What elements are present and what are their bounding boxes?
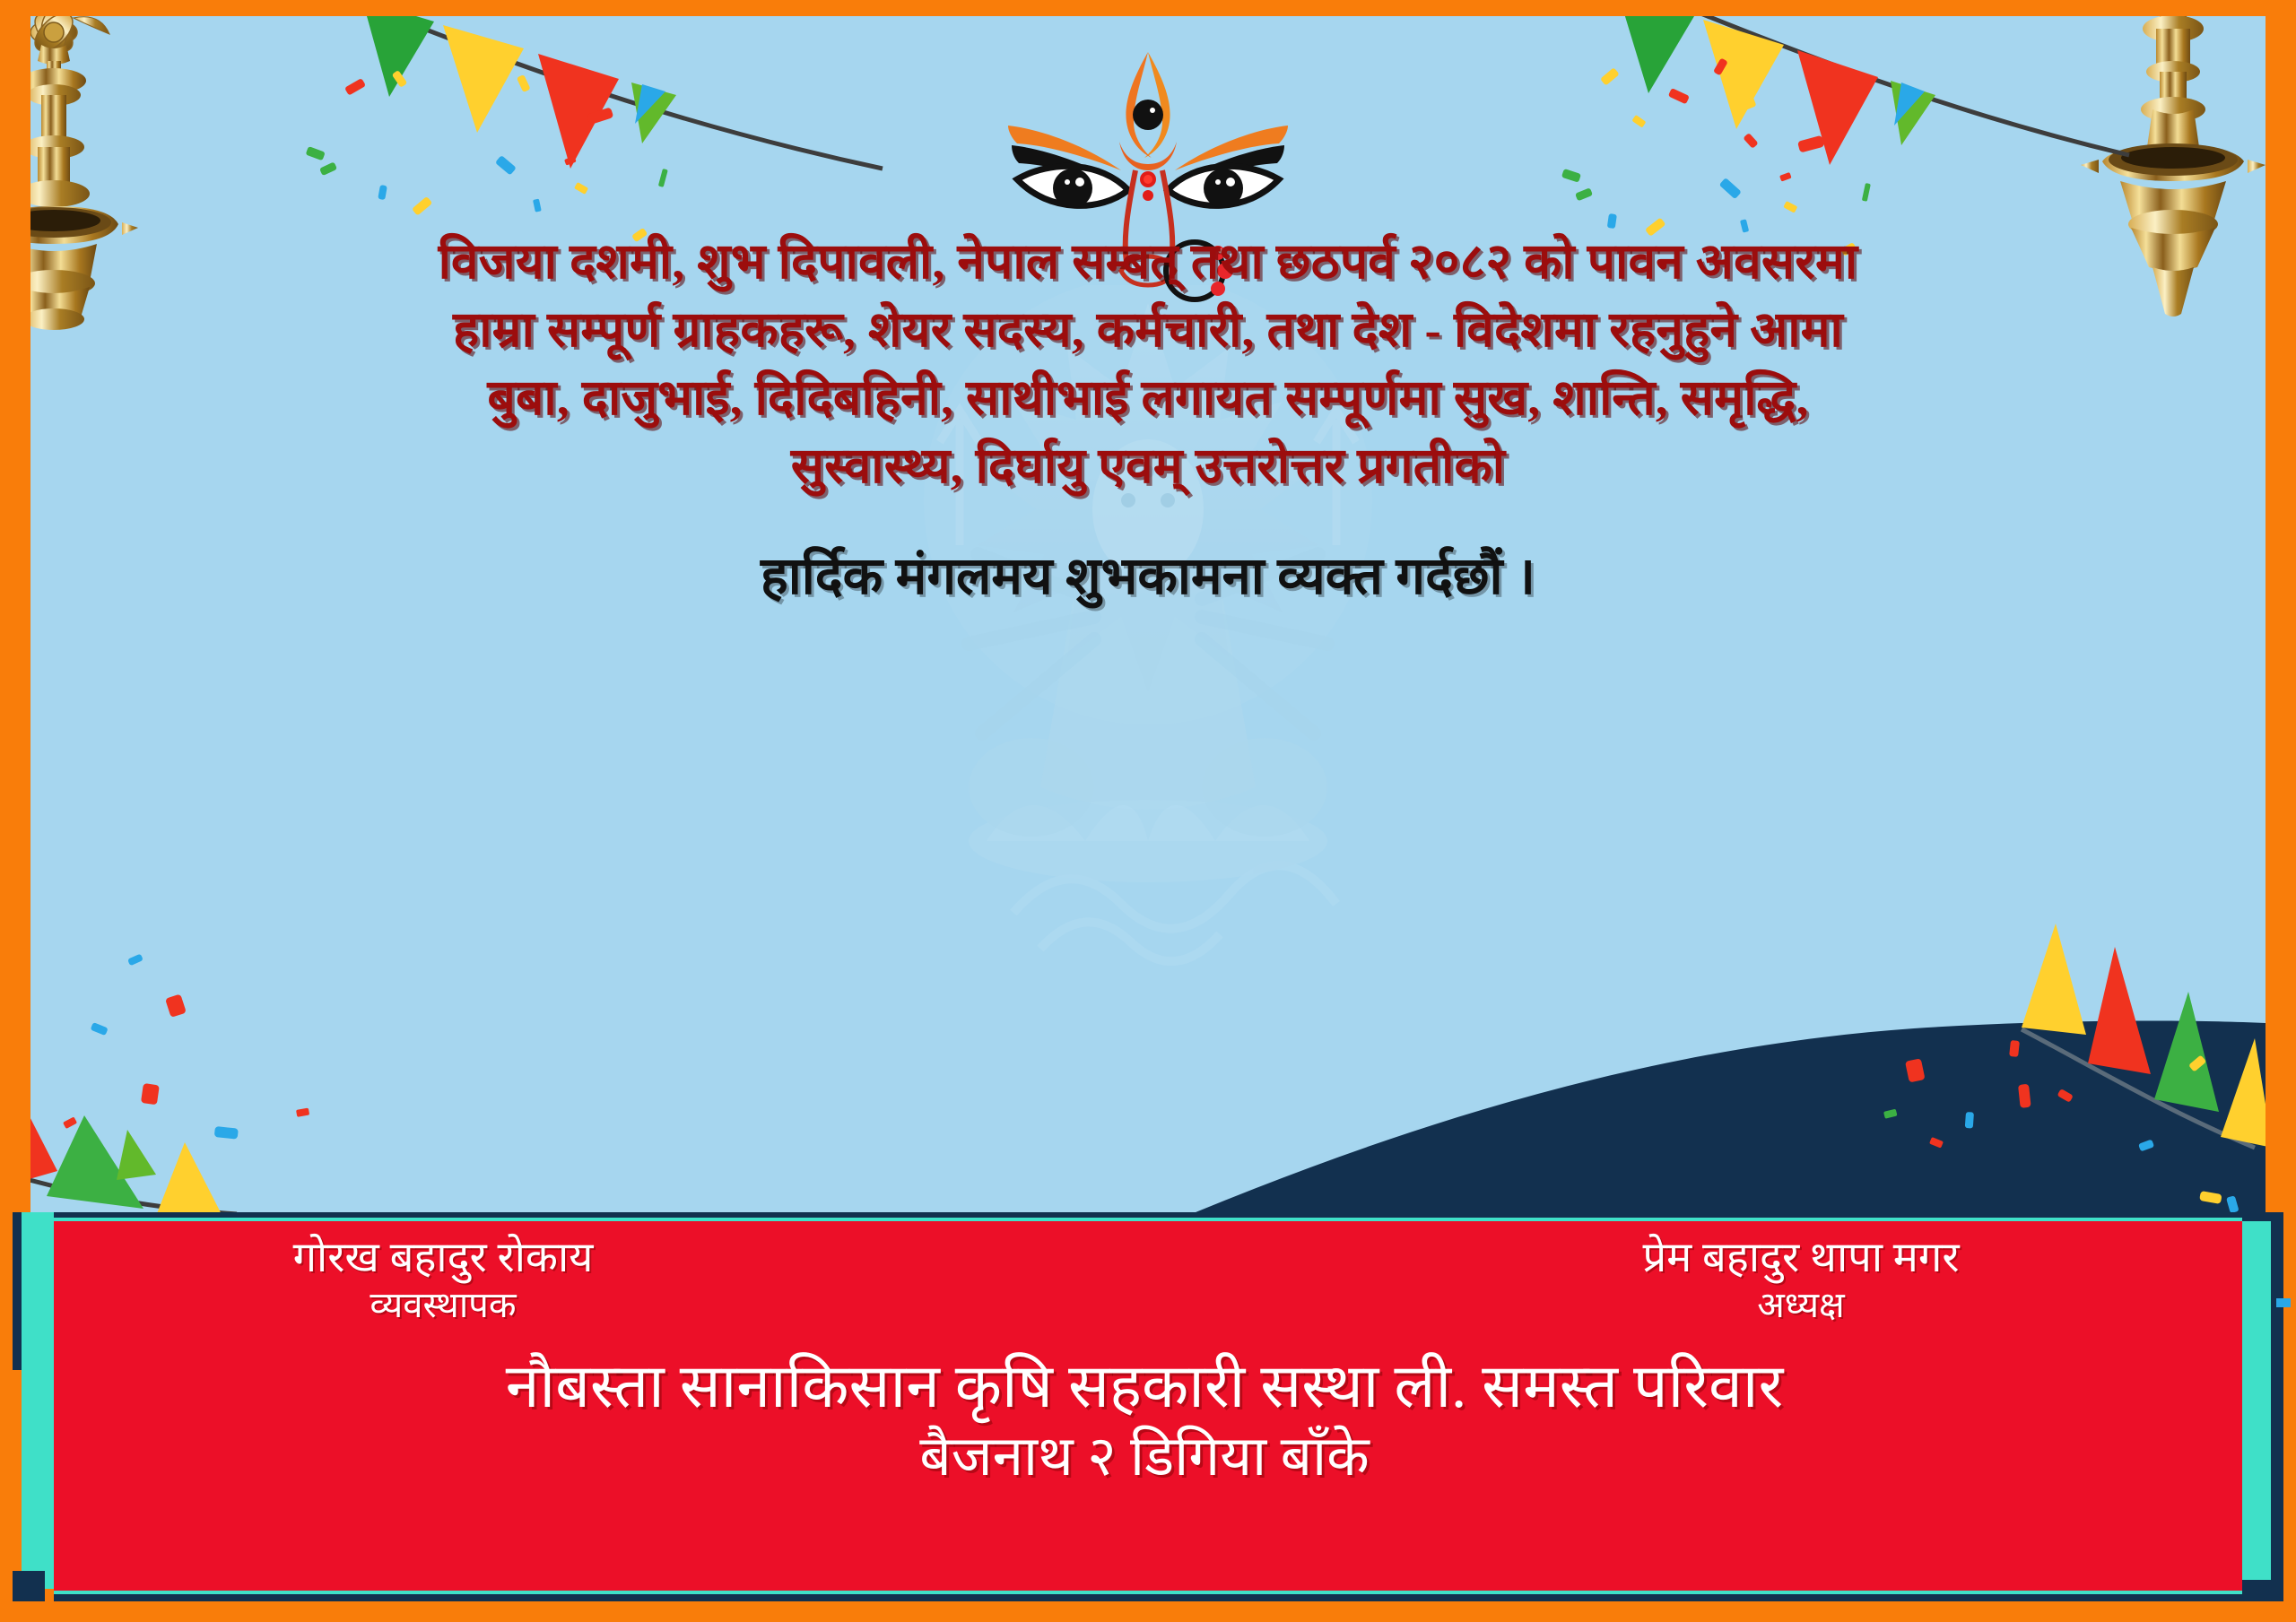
signatory-right-name: प्रेम बहादुर थापा मगर [1460,1234,2142,1282]
right-edge-strip [2242,1212,2296,1601]
greeting-card: विजया दशमी, शुभ दिपावली, नेपाल सम्बत् तथ… [0,0,2296,1622]
signatory-left: गोरख बहादुर रोकाय व्यवस्थापक [102,1234,784,1325]
signatory-right: प्रेम बहादुर थापा मगर अध्यक्ष [1460,1234,2142,1325]
signatory-left-name: गोरख बहादुर रोकाय [102,1234,784,1282]
message-line-2: हाम्रा सम्पूर्ण ग्राहकहरू, शेयर सदस्य, क… [30,296,2266,364]
bunting-flags-icon [1752,913,2266,1236]
bunting-flags-icon [30,940,533,1236]
signature-banner: गोरख बहादुर रोकाय व्यवस्थापक प्रेम बहादु… [39,1221,2249,1591]
message-closing-line: हार्दिक मंगलमय शुभकामना व्यक्त गर्दछौं । [30,538,2266,609]
signatory-right-role: अध्यक्ष [1460,1286,2142,1325]
left-edge-strip [0,1212,54,1601]
message-line-4: सुस्वास्थ्य, दिर्घायु एवम् उत्तरोत्तर प्… [30,432,2266,500]
organization-block: नौबस्ता सानाकिसान कृषि सहकारी सस्था ली. … [39,1350,2249,1490]
organization-address: बैजनाथ २ डिगिया बाँके [39,1424,2249,1490]
message-line-1: विजया दशमी, शुभ दिपावली, नेपाल सम्बत् तथ… [30,228,2266,296]
signatories-row: गोरख बहादुर रोकाय व्यवस्थापक प्रेम बहादु… [39,1221,2249,1354]
signatory-left-role: व्यवस्थापक [102,1286,784,1325]
greeting-message: विजया दशमी, शुभ दिपावली, नेपाल सम्बत् तथ… [30,228,2266,609]
organization-name: नौबस्ता सानाकिसान कृषि सहकारी सस्था ली. … [39,1350,2249,1424]
message-line-3: बुबा, दाजुभाई, दिदिबहिनी, साथीभाई लगायत … [30,364,2266,432]
